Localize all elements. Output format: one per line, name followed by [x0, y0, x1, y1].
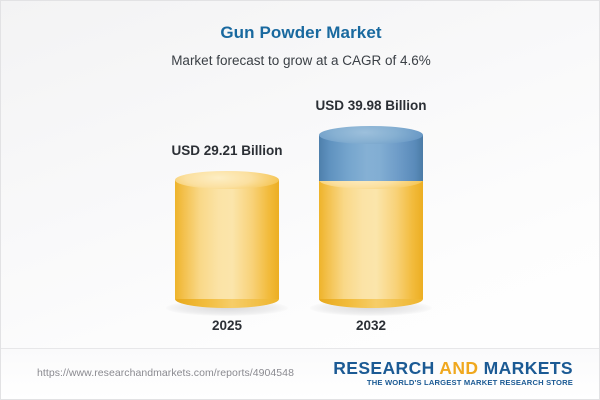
bar-category-label-2025: 2025 [175, 318, 279, 333]
bar-segment-base-2032[interactable] [319, 171, 423, 308]
chart-plot-area: USD 29.21 Billion 2025 USD 39.98 Billion [1, 1, 600, 349]
logo-wordmark: RESEARCH AND MARKETS [333, 359, 573, 377]
research-and-markets-logo[interactable]: RESEARCH AND MARKETS THE WORLD'S LARGEST… [333, 359, 573, 387]
cylinder-top-cap-blue [319, 126, 423, 144]
bar-value-label-2025: USD 29.21 Billion [135, 143, 319, 158]
bar-value-label-2032: USD 39.98 Billion [279, 98, 463, 113]
bar-group-2025: USD 29.21 Billion 2025 [175, 1, 279, 349]
cylinder-top-cap-yellow [175, 171, 279, 189]
report-url[interactable]: https://www.researchandmarkets.com/repor… [37, 367, 294, 379]
footer: https://www.researchandmarkets.com/repor… [1, 348, 599, 399]
bar-segment-growth-2032[interactable] [319, 126, 423, 190]
bar-category-label-2032: 2032 [319, 318, 423, 333]
cylinder-body-yellow [175, 180, 279, 299]
logo-word-markets: MARKETS [478, 358, 573, 378]
logo-word-research: RESEARCH [333, 358, 439, 378]
logo-tagline: THE WORLD'S LARGEST MARKET RESEARCH STOR… [333, 378, 573, 387]
logo-word-and: AND [439, 358, 478, 378]
cylinder-body-yellow [319, 180, 423, 299]
market-chart-poster: Gun Powder Market Market forecast to gro… [0, 0, 600, 400]
bar-group-2032: USD 39.98 Billion 2032 [319, 1, 423, 349]
bar-cylinder-2025[interactable] [175, 171, 279, 308]
